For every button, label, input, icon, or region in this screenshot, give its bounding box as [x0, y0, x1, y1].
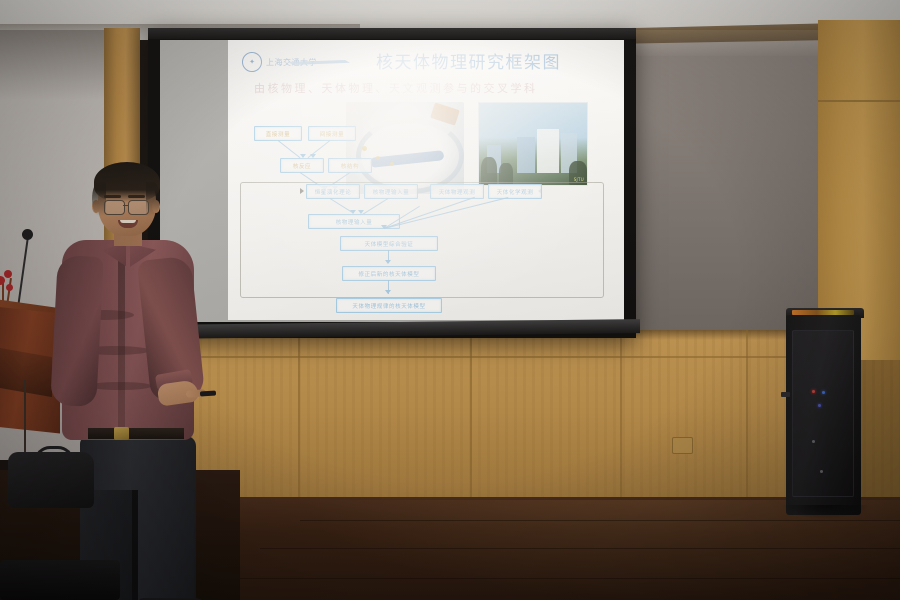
wood-seam [620, 330, 622, 500]
wood-seam [298, 330, 300, 500]
flowchart-arrowhead [381, 225, 387, 229]
bag[interactable] [8, 452, 94, 508]
presenter-leg-right [136, 490, 194, 600]
wood-seam [746, 330, 748, 500]
status-led [812, 440, 815, 443]
presenter-eyebrow-right [128, 195, 145, 198]
flower-petal [4, 270, 12, 278]
floor-plank [220, 578, 900, 579]
flowchart: 直接测量 间接测量 核反应 核结构 [238, 126, 618, 316]
flowchart-arrowhead [300, 188, 304, 194]
equipment-rack-door[interactable] [792, 330, 854, 497]
flowchart-box: 天体化学观测 [488, 184, 542, 199]
screen-frame-top [148, 28, 636, 39]
flowchart-box: 恒星演化理论 [306, 184, 360, 199]
floor-plank [300, 520, 900, 521]
glasses-bridge [123, 205, 128, 206]
shirt-placket [118, 252, 125, 432]
glasses-icon [128, 200, 149, 215]
flowchart-box: 天体物理规律的核天体模型 [336, 298, 442, 313]
status-led [820, 470, 823, 473]
flower-petal [6, 284, 13, 291]
flowchart-box: 间接测量 [308, 126, 356, 141]
flowchart-box: 直接测量 [254, 126, 302, 141]
flower-petal [0, 276, 5, 285]
flowchart-arrow [278, 140, 301, 158]
presentation-slide: ✦ 上海交通大学 核天体物理研究框架图 由核物理、天体物理、天文观测参与的交叉学… [228, 40, 624, 320]
microphone-icon [22, 229, 33, 240]
wood-panel-seam [818, 100, 900, 102]
seal-icon: ✦ [242, 52, 262, 72]
glasses-icon [104, 200, 125, 215]
belt-buckle [114, 427, 129, 440]
flowchart-box: 修正后新的核天体模型 [342, 266, 436, 281]
status-led [822, 391, 825, 394]
floor-plank [260, 548, 900, 549]
flowchart-box: 天体物理观测 [430, 184, 484, 199]
presenter-eyebrow-left [104, 195, 121, 198]
projection-screen[interactable]: ✦ 上海交通大学 核天体物理研究框架图 由核物理、天体物理、天文观测参与的交叉学… [148, 28, 636, 338]
presenter-teeth [120, 220, 136, 223]
screen-surface: ✦ 上海交通大学 核天体物理研究框架图 由核物理、天体物理、天文观测参与的交叉学… [160, 40, 624, 322]
wood-rail [118, 356, 818, 358]
flowchart-arrowhead [385, 290, 391, 294]
slide-title: 核天体物理研究框架图 [376, 48, 616, 73]
flowchart-box: 核反应 [280, 158, 324, 173]
wood-seam [470, 330, 472, 500]
foreground-object [0, 560, 120, 600]
wall-left-shadow [0, 30, 118, 100]
status-led [812, 390, 815, 393]
power-socket[interactable] [672, 437, 693, 454]
flowchart-box: 核结构 [328, 158, 372, 173]
presenter-belt [88, 428, 184, 439]
presenter-trouser-split [132, 490, 138, 600]
presenter-arm-left [50, 255, 104, 407]
flowchart-arrowhead [385, 260, 391, 264]
equipment-rack-shadow [780, 505, 870, 519]
slide-subtitle: 由核物理、天体物理、天文观测参与的交叉学科 [254, 80, 594, 96]
equipment-rack-handle[interactable] [781, 392, 790, 397]
status-led [818, 404, 821, 407]
lecture-hall-photo: ✦ 上海交通大学 核天体物理研究框架图 由核物理、天体物理、天文观测参与的交叉学… [0, 0, 900, 600]
flowchart-box: 天体模型综合验证 [340, 236, 438, 251]
presenter [40, 160, 210, 580]
flowchart-box: 核物理输入量 [364, 184, 418, 199]
